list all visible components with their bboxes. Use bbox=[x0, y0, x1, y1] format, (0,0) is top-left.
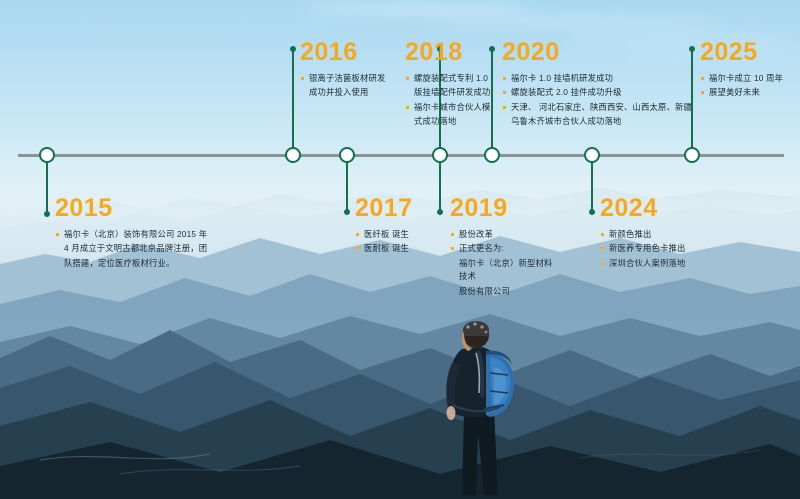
timeline-axis bbox=[18, 154, 784, 157]
list-item: 正式更名为: bbox=[450, 242, 555, 255]
hiker-figure bbox=[420, 305, 530, 499]
timeline-entry-2015[interactable]: 2015 福尔卡（北京）装饰有限公司 2015 年 4 月成立于文明古都北京品牌… bbox=[55, 196, 245, 271]
timeline-bullets-2019: 股份改革 正式更名为: 福尔卡（北京）新型材料技术 股份有限公司 bbox=[450, 228, 555, 298]
timeline-node-2016[interactable] bbox=[285, 147, 301, 163]
timeline-node-2018-2019[interactable] bbox=[432, 147, 448, 163]
timeline-year-2015: 2015 bbox=[55, 196, 245, 221]
timeline-stem-2024 bbox=[591, 155, 594, 213]
cloud-wisp bbox=[300, 2, 530, 15]
timeline-entry-2020[interactable]: 2020 福尔卡 1.0 挂墙机研发成功 螺旋装配式 2.0 挂件成功升级 天津… bbox=[502, 40, 702, 130]
list-item: 银离子洁菌板材研发 bbox=[300, 72, 395, 85]
list-item: 福尔卡（北京）新型材料技术 bbox=[450, 257, 555, 284]
timeline-bullets-2016: 银离子洁菌板材研发 成功并投入使用 bbox=[300, 72, 395, 100]
list-item: 4 月成立于文明古都北京品牌注册，团 bbox=[55, 242, 245, 255]
list-item: 式成功落地 bbox=[405, 115, 503, 128]
list-item: 螺旋装配式专利 1.0 bbox=[405, 72, 503, 85]
timeline-entry-2017[interactable]: 2017 医纤板 诞生 医耐板 诞生 bbox=[355, 196, 435, 257]
list-item: 队搭建，定位医疗板材行业。 bbox=[55, 257, 245, 270]
timeline-entry-2024[interactable]: 2024 新颜色推出 新医养专用色卡推出 深圳合伙人案例落地 bbox=[600, 196, 710, 271]
list-item: 乌鲁木齐城市合伙人成功落地 bbox=[502, 115, 702, 128]
list-item: 福尔卡 1.0 挂墙机研发成功 bbox=[502, 72, 702, 85]
list-item: 福尔卡（北京）装饰有限公司 2015 年 bbox=[55, 228, 245, 241]
timeline-stem-2015 bbox=[46, 155, 49, 215]
timeline-stem-2017 bbox=[346, 155, 349, 213]
timeline-node-2020[interactable] bbox=[484, 147, 500, 163]
timeline-bullets-2020: 福尔卡 1.0 挂墙机研发成功 螺旋装配式 2.0 挂件成功升级 天津、 河北石… bbox=[502, 72, 702, 129]
timeline-bullets-2017: 医纤板 诞生 医耐板 诞生 bbox=[355, 228, 435, 256]
list-item: 螺旋装配式 2.0 挂件成功升级 bbox=[502, 86, 702, 99]
timeline-node-2025[interactable] bbox=[684, 147, 700, 163]
timeline-year-2024: 2024 bbox=[600, 196, 710, 221]
timeline-year-2025: 2025 bbox=[700, 40, 795, 65]
timeline-year-2016: 2016 bbox=[300, 40, 395, 65]
list-item: 股份改革 bbox=[450, 228, 555, 241]
list-item: 成功并投入使用 bbox=[300, 86, 395, 99]
timeline-entry-2016[interactable]: 2016 银离子洁菌板材研发 成功并投入使用 bbox=[300, 40, 395, 101]
list-item: 深圳合伙人案例落地 bbox=[600, 257, 710, 270]
list-item: 新颜色推出 bbox=[600, 228, 710, 241]
timeline-year-2019: 2019 bbox=[450, 196, 555, 221]
timeline-node-2024[interactable] bbox=[584, 147, 600, 163]
list-item: 天津、 河北石家庄、陕西西安、山西太原、新疆 bbox=[502, 101, 702, 114]
list-item: 展望美好未来 bbox=[700, 86, 795, 99]
timeline-bullets-2018: 螺旋装配式专利 1.0 版挂墙配件研发成功 福尔卡城市合伙人模 式成功落地 bbox=[405, 72, 503, 129]
timeline-year-2017: 2017 bbox=[355, 196, 435, 221]
list-item: 医耐板 诞生 bbox=[355, 242, 435, 255]
mountain-trail-lines bbox=[0, 420, 800, 490]
timeline-stem-2019 bbox=[439, 155, 442, 213]
cloud-wisp bbox=[430, 16, 730, 26]
timeline-node-2015[interactable] bbox=[39, 147, 55, 163]
list-item: 新医养专用色卡推出 bbox=[600, 242, 710, 255]
list-item: 版挂墙配件研发成功 bbox=[405, 86, 503, 99]
timeline-stem-2016 bbox=[292, 48, 295, 155]
timeline-bullets-2015: 福尔卡（北京）装饰有限公司 2015 年 4 月成立于文明古都北京品牌注册，团 … bbox=[55, 228, 245, 270]
list-item: 医纤板 诞生 bbox=[355, 228, 435, 241]
timeline-bullets-2025: 福尔卡成立 10 周年 展望美好未来 bbox=[700, 72, 795, 100]
list-item: 股份有限公司 bbox=[450, 285, 555, 298]
timeline-entry-2025[interactable]: 2025 福尔卡成立 10 周年 展望美好未来 bbox=[700, 40, 795, 101]
timeline-entry-2018[interactable]: 2018 螺旋装配式专利 1.0 版挂墙配件研发成功 福尔卡城市合伙人模 式成功… bbox=[405, 40, 503, 130]
timeline-year-2018: 2018 bbox=[405, 40, 503, 65]
timeline-bullets-2024: 新颜色推出 新医养专用色卡推出 深圳合伙人案例落地 bbox=[600, 228, 710, 270]
cloud-wisp bbox=[80, 28, 250, 36]
timeline-infographic: 2015 福尔卡（北京）装饰有限公司 2015 年 4 月成立于文明古都北京品牌… bbox=[0, 0, 800, 499]
list-item: 福尔卡成立 10 周年 bbox=[700, 72, 795, 85]
timeline-node-2017[interactable] bbox=[339, 147, 355, 163]
timeline-entry-2019[interactable]: 2019 股份改革 正式更名为: 福尔卡（北京）新型材料技术 股份有限公司 bbox=[450, 196, 555, 299]
list-item: 福尔卡城市合伙人模 bbox=[405, 101, 503, 114]
timeline-year-2020: 2020 bbox=[502, 40, 702, 65]
